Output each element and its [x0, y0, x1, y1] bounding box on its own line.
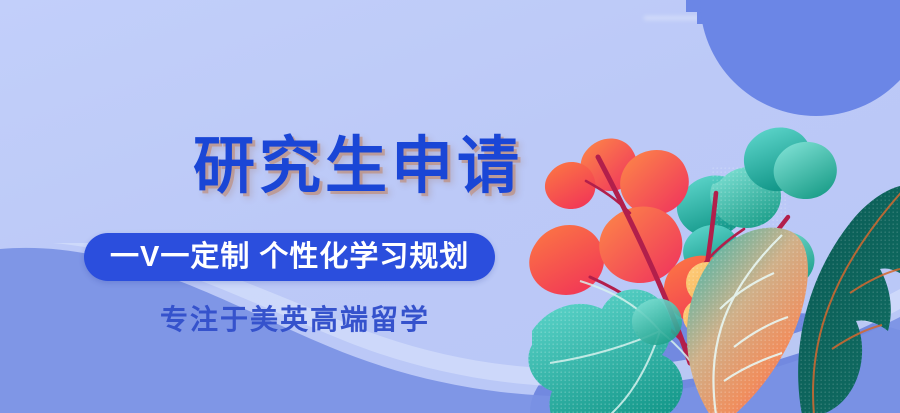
page-title: 研究生申请	[193, 134, 523, 199]
tagline: 专注于美英高端留学	[160, 298, 430, 338]
subtitle-pill: 一 V 一定制 个性化学习规划	[84, 233, 495, 281]
deep-teal-fern-leaf	[798, 185, 900, 413]
promo-banner: 研究生申请 一 V 一定制 个性化学习规划 专注于美英高端留学	[0, 0, 900, 413]
subtitle-suffix-text: 一定制 个性化学习规划	[160, 243, 469, 272]
faint-streak-decoration	[644, 16, 700, 20]
subtitle-prefix-text: 一	[110, 243, 140, 272]
subtitle-v-mark: V	[140, 243, 160, 272]
botanical-plant-illustration	[520, 95, 900, 413]
